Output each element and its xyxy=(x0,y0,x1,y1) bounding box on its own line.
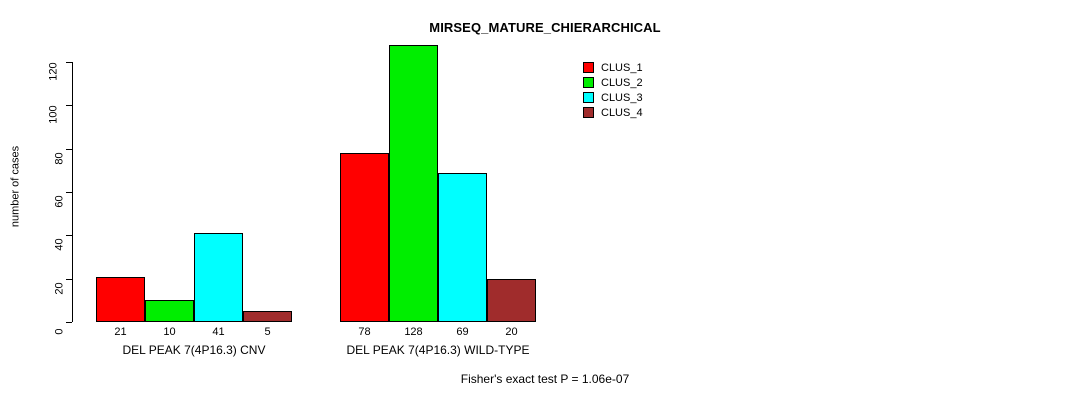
bar-clus-4[interactable] xyxy=(243,311,292,322)
x-axis-group-label: DEL PEAK 7(4P16.3) WILD-TYPE xyxy=(340,344,536,356)
legend-swatch-clus-2 xyxy=(583,77,594,88)
y-axis-tick-label: 20 xyxy=(55,278,66,298)
y-axis-tick-label: 80 xyxy=(55,148,66,168)
legend-swatch-clus-1 xyxy=(583,62,594,73)
bar-clus-1[interactable] xyxy=(96,277,145,323)
bar-value-label: 20 xyxy=(487,327,536,338)
bar-clus-2[interactable] xyxy=(389,45,438,322)
bar-clus-3[interactable] xyxy=(438,173,487,323)
bar-value-label: 41 xyxy=(194,327,243,338)
legend-label-clus-1: CLUS_1 xyxy=(601,62,643,74)
y-axis-tick xyxy=(66,192,72,193)
legend-label-clus-2: CLUS_2 xyxy=(601,77,643,89)
y-axis-tick xyxy=(66,62,72,63)
y-axis-tick xyxy=(66,279,72,280)
bar-chart-plot: MIRSEQ_MATURE_CHIERARCHICAL 020406080100… xyxy=(0,0,1090,400)
y-axis-tick xyxy=(66,235,72,236)
bar-value-label: 5 xyxy=(243,327,292,338)
bar-value-label: 78 xyxy=(340,327,389,338)
bar-clus-3[interactable] xyxy=(194,233,243,322)
y-axis-tick-label: 120 xyxy=(49,62,60,82)
bar-clus-4[interactable] xyxy=(487,279,536,322)
bar-clus-2[interactable] xyxy=(145,300,194,322)
bar-value-label: 128 xyxy=(389,327,438,338)
legend-label-clus-4: CLUS_4 xyxy=(601,107,643,119)
y-axis-line xyxy=(72,62,73,322)
bar-value-label: 10 xyxy=(145,327,194,338)
y-axis-tick xyxy=(66,105,72,106)
bar-value-label: 21 xyxy=(96,327,145,338)
y-axis-tick-label: 100 xyxy=(49,105,60,125)
y-axis-tick xyxy=(66,149,72,150)
legend-swatch-clus-3 xyxy=(583,92,594,103)
y-axis-tick xyxy=(66,322,72,323)
y-axis-tick-label: 60 xyxy=(55,192,66,212)
y-axis-title: number of cases xyxy=(11,127,22,247)
fisher-test-annotation: Fisher's exact test P = 1.06e-07 xyxy=(0,372,1090,386)
legend-label-clus-3: CLUS_3 xyxy=(601,92,643,104)
x-axis-group-label: DEL PEAK 7(4P16.3) CNV xyxy=(96,344,292,356)
chart-title: MIRSEQ_MATURE_CHIERARCHICAL xyxy=(0,20,1090,35)
y-axis-tick-label: 40 xyxy=(55,235,66,255)
y-axis-tick-label: 0 xyxy=(55,322,66,342)
bar-value-label: 69 xyxy=(438,327,487,338)
legend-swatch-clus-4 xyxy=(583,107,594,118)
bar-clus-1[interactable] xyxy=(340,153,389,322)
